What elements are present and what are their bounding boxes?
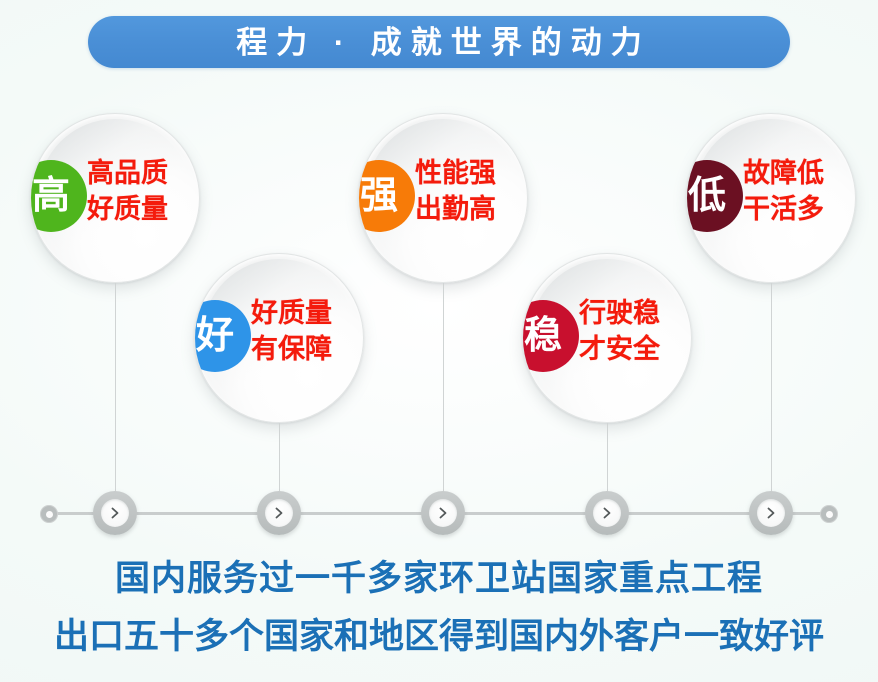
connector-stem-2 — [279, 423, 280, 493]
footer-line-1: 国内服务过一千多家环卫站国家重点工程 — [0, 550, 878, 601]
bubble-text-5: 故障低 干活多 — [743, 156, 855, 227]
bubble-text-4: 行驶稳 才安全 — [579, 296, 691, 367]
timeline-node-4[interactable] — [585, 491, 629, 535]
bubble-text-3: 性能强 出勤高 — [415, 156, 527, 227]
bubble-line-2: 才安全 — [579, 332, 691, 368]
timeline-node-2[interactable] — [257, 491, 301, 535]
timeline-node-3[interactable] — [421, 491, 465, 535]
bubble-line-1: 行驶稳 — [579, 298, 660, 328]
promo-poster: 程力 · 成就世界的动力 高 高品质 好质量 强 性能强 出勤高 低 故障低 干… — [0, 0, 878, 682]
badge-icon-strong: 强 — [359, 160, 415, 232]
connector-stem-1 — [115, 283, 116, 493]
feature-bubble-low-failure[interactable]: 低 故障低 干活多 — [686, 113, 856, 283]
feature-bubble-stability[interactable]: 稳 行驶稳 才安全 — [522, 253, 692, 423]
connector-stem-4 — [607, 423, 608, 493]
timeline-node-5[interactable] — [749, 491, 793, 535]
timeline-endcap-left — [40, 505, 58, 523]
chevron-right-icon — [429, 499, 457, 527]
header-banner: 程力 · 成就世界的动力 — [88, 16, 790, 68]
chevron-right-icon — [101, 499, 129, 527]
page-title: 程力 · 成就世界的动力 — [227, 27, 651, 58]
footer-line-2: 出口五十多个国家和地区得到国内外客户一致好评 — [0, 608, 878, 659]
bubble-line-2: 好质量 — [87, 192, 199, 228]
bubble-line-2: 有保障 — [251, 332, 363, 368]
badge-icon-low: 低 — [687, 160, 743, 232]
connector-stem-3 — [443, 283, 444, 493]
feature-bubble-guarantee[interactable]: 好 好质量 有保障 — [194, 253, 364, 423]
connector-stem-5 — [771, 283, 772, 493]
feature-bubble-high-quality[interactable]: 高 高品质 好质量 — [30, 113, 200, 283]
bubble-text-2: 好质量 有保障 — [251, 296, 363, 367]
chevron-right-icon — [265, 499, 293, 527]
timeline-node-1[interactable] — [93, 491, 137, 535]
bubble-line-2: 出勤高 — [415, 192, 527, 228]
chevron-right-icon — [593, 499, 621, 527]
bubble-line-1: 性能强 — [415, 158, 496, 188]
bubble-line-1: 好质量 — [251, 298, 332, 328]
feature-bubble-performance[interactable]: 强 性能强 出勤高 — [358, 113, 528, 283]
badge-icon-good: 好 — [195, 300, 251, 372]
bubble-line-2: 干活多 — [743, 192, 855, 228]
bubble-text-1: 高品质 好质量 — [87, 156, 199, 227]
chevron-right-icon — [757, 499, 785, 527]
bubble-line-1: 故障低 — [743, 158, 824, 188]
badge-icon-stable: 稳 — [523, 300, 579, 372]
bubble-line-1: 高品质 — [87, 158, 168, 188]
badge-icon-high: 高 — [31, 160, 87, 232]
timeline-endcap-right — [820, 505, 838, 523]
